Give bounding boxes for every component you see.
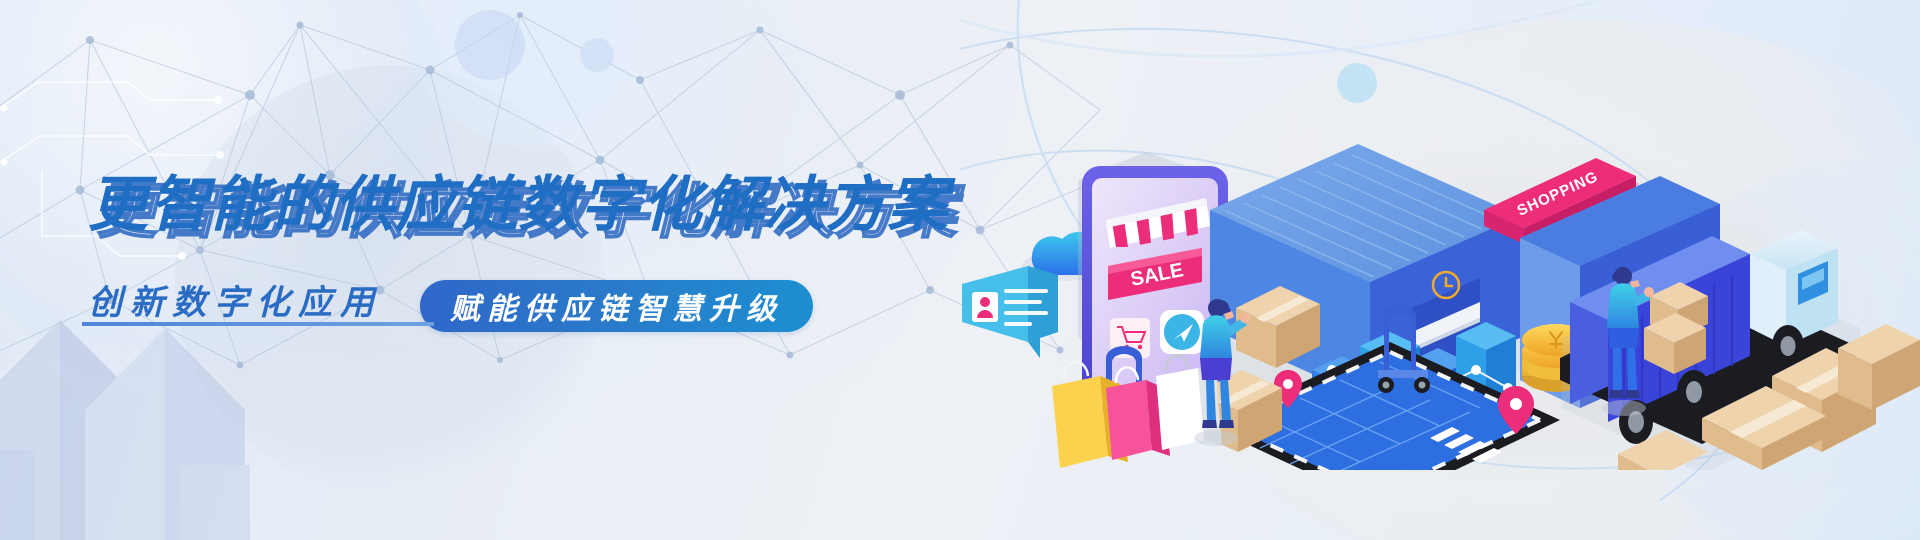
app-tile-send bbox=[1160, 310, 1204, 354]
bg-dot-2 bbox=[580, 38, 614, 72]
promo-banner: 更智能的供应链数字化解决方案 更智能的供应链数字化解决方案 创新数字化应用 赋能… bbox=[0, 0, 1920, 540]
subtitle-underline bbox=[82, 322, 434, 326]
hero-illustration: SALE bbox=[960, 70, 1920, 470]
chat-bubble-avatar bbox=[962, 266, 1058, 358]
banner-copy: 更智能的供应链数字化解决方案 更智能的供应链数字化解决方案 创新数字化应用 赋能… bbox=[88, 170, 1048, 244]
page-title: 更智能的供应链数字化解决方案 bbox=[88, 170, 949, 240]
headline-group: 更智能的供应链数字化解决方案 更智能的供应链数字化解决方案 bbox=[88, 170, 1048, 244]
truck-wheel bbox=[1677, 370, 1711, 414]
truck-wheel bbox=[1772, 325, 1804, 367]
tagline-badge-label: 赋能供应链智慧升级 bbox=[450, 284, 783, 328]
bg-dot-1 bbox=[455, 10, 525, 80]
tagline-badge: 赋能供应链智慧升级 bbox=[420, 280, 813, 332]
